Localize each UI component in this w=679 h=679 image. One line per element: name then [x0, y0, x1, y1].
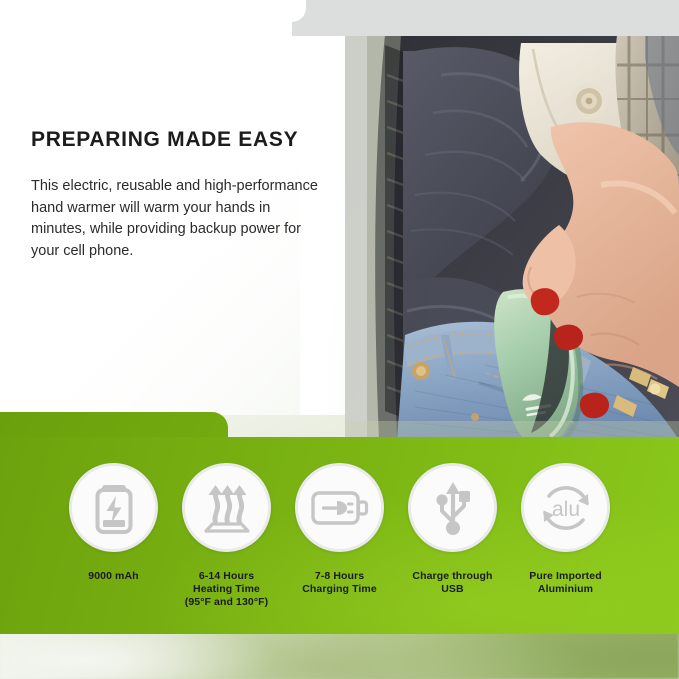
feature-list: 9000 mAh 6-14 Hours Heating Time — [0, 463, 679, 609]
aluminium-recycle-icon: alu — [535, 477, 597, 539]
feature-label: Pure Imported Aluminium — [529, 570, 601, 596]
feature-icon-circle — [408, 463, 497, 552]
feature-icon-circle — [182, 463, 271, 552]
feature-icon-circle — [295, 463, 384, 552]
aluminium-icon-text: alu — [551, 498, 579, 521]
feature-item-aluminium: alu Pure Imported Aluminium — [509, 463, 622, 596]
feature-label-line3: (95°F and 130°F) — [185, 596, 269, 609]
feature-label-line2: Charging Time — [302, 583, 377, 596]
feature-label-line1: Pure Imported — [529, 570, 601, 582]
lifestyle-photo — [345, 35, 679, 440]
top-gray-band — [0, 0, 679, 36]
product-feature-banner: PREPARING MADE EASY This electric, reusa… — [0, 0, 679, 679]
blurred-grass-strip — [0, 632, 679, 679]
feature-icon-circle — [69, 463, 158, 552]
description-text: This electric, reusable and high-perform… — [31, 176, 321, 262]
feature-label: 7-8 Hours Charging Time — [302, 570, 377, 596]
feature-item-battery: 9000 mAh — [57, 463, 170, 583]
feature-label-line1: Charge through — [412, 570, 492, 582]
feature-label-line1: 7-8 Hours — [315, 570, 364, 582]
feature-label: Charge through USB — [412, 570, 492, 596]
lifestyle-photo-illustration — [345, 35, 679, 440]
page-title: PREPARING MADE EASY — [31, 128, 298, 152]
battery-bolt-icon — [86, 480, 142, 536]
feature-label: 9000 mAh — [88, 570, 138, 583]
feature-item-charging: 7-8 Hours Charging Time — [283, 463, 396, 596]
feature-label-line2: Aluminium — [529, 583, 601, 596]
feature-label: 6-14 Hours Heating Time (95°F and 130°F) — [185, 570, 269, 609]
feature-label-line1: 6-14 Hours — [199, 570, 254, 582]
feature-label-line2: USB — [412, 583, 492, 596]
feature-item-usb: Charge through USB — [396, 463, 509, 596]
heat-waves-icon — [198, 479, 256, 537]
feature-label-line1: 9000 mAh — [88, 570, 138, 582]
battery-plug-icon — [310, 484, 370, 532]
feature-icon-circle: alu — [521, 463, 610, 552]
feature-label-line2: Heating Time — [185, 583, 269, 596]
feature-item-heating: 6-14 Hours Heating Time (95°F and 130°F) — [170, 463, 283, 609]
usb-icon — [430, 479, 476, 537]
gray-band-notch-fill — [0, 0, 292, 36]
